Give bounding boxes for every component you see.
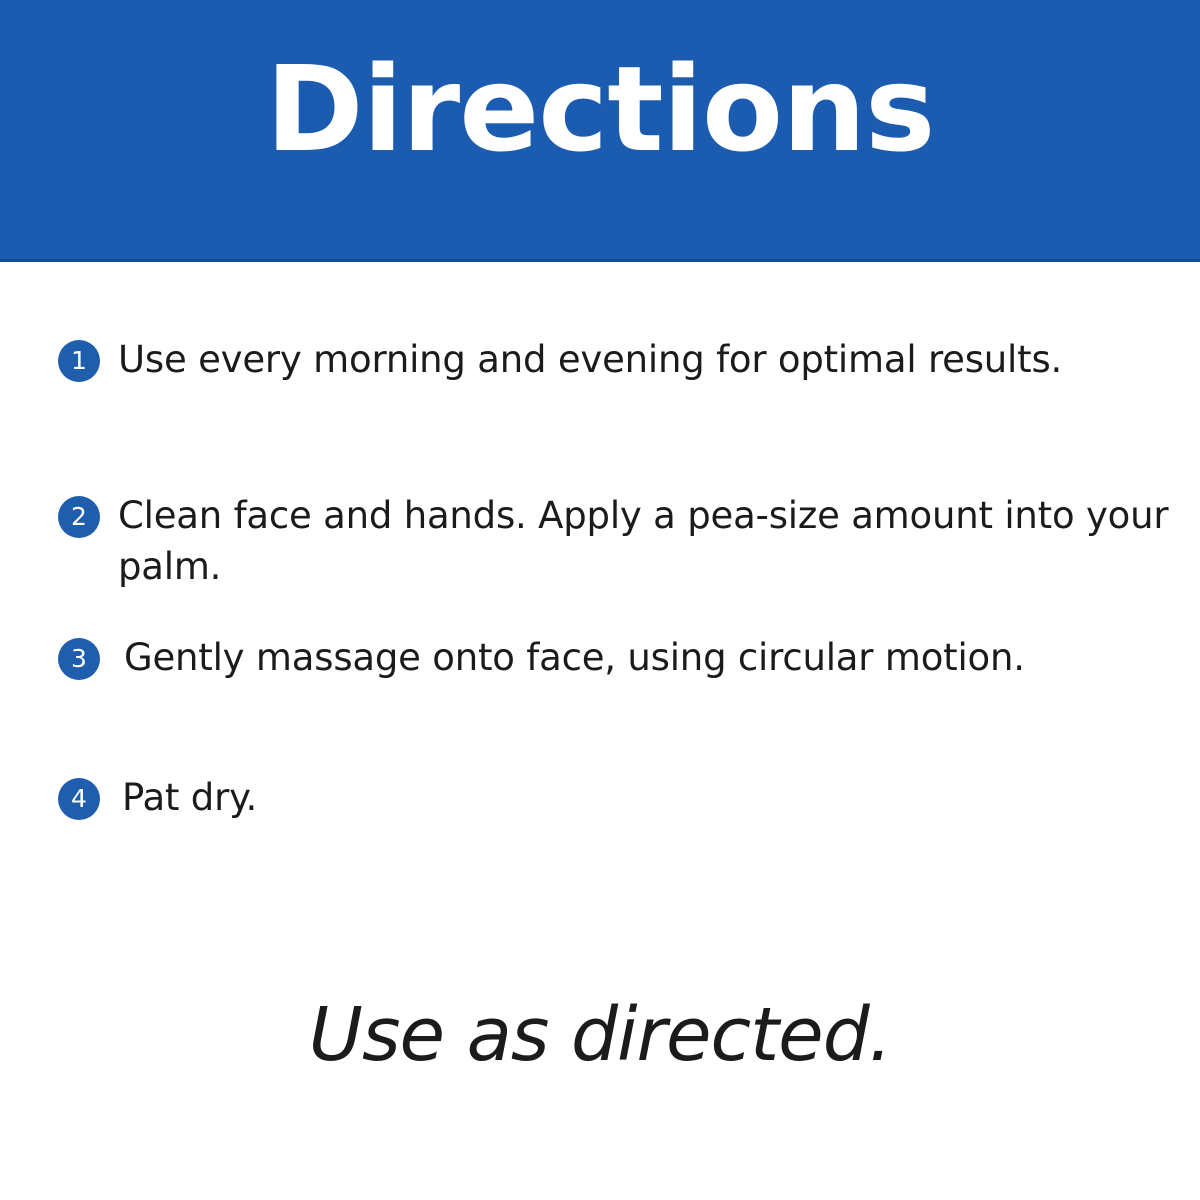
list-item: 1 Use every morning and evening for opti… [58, 334, 1178, 385]
step-number-badge: 4 [58, 778, 100, 820]
header-banner: Directions [0, 0, 1200, 262]
page-title: Directions [0, 48, 1200, 172]
step-text: Pat dry. [122, 772, 1178, 823]
list-item: 3 Gently massage onto face, using circul… [58, 632, 1178, 683]
step-number-badge: 1 [58, 340, 100, 382]
list-item: 2 Clean face and hands. Apply a pea-size… [58, 490, 1178, 592]
directions-panel: Directions 1 Use every morning and eveni… [0, 0, 1200, 1200]
step-number-badge: 3 [58, 638, 100, 680]
step-text: Gently massage onto face, using circular… [124, 632, 1178, 683]
step-text: Clean face and hands. Apply a pea-size a… [118, 490, 1178, 592]
list-item: 4 Pat dry. [58, 772, 1178, 823]
footer-note: Use as directed. [0, 995, 1200, 1076]
step-text: Use every morning and evening for optima… [118, 334, 1178, 385]
step-number-badge: 2 [58, 496, 100, 538]
